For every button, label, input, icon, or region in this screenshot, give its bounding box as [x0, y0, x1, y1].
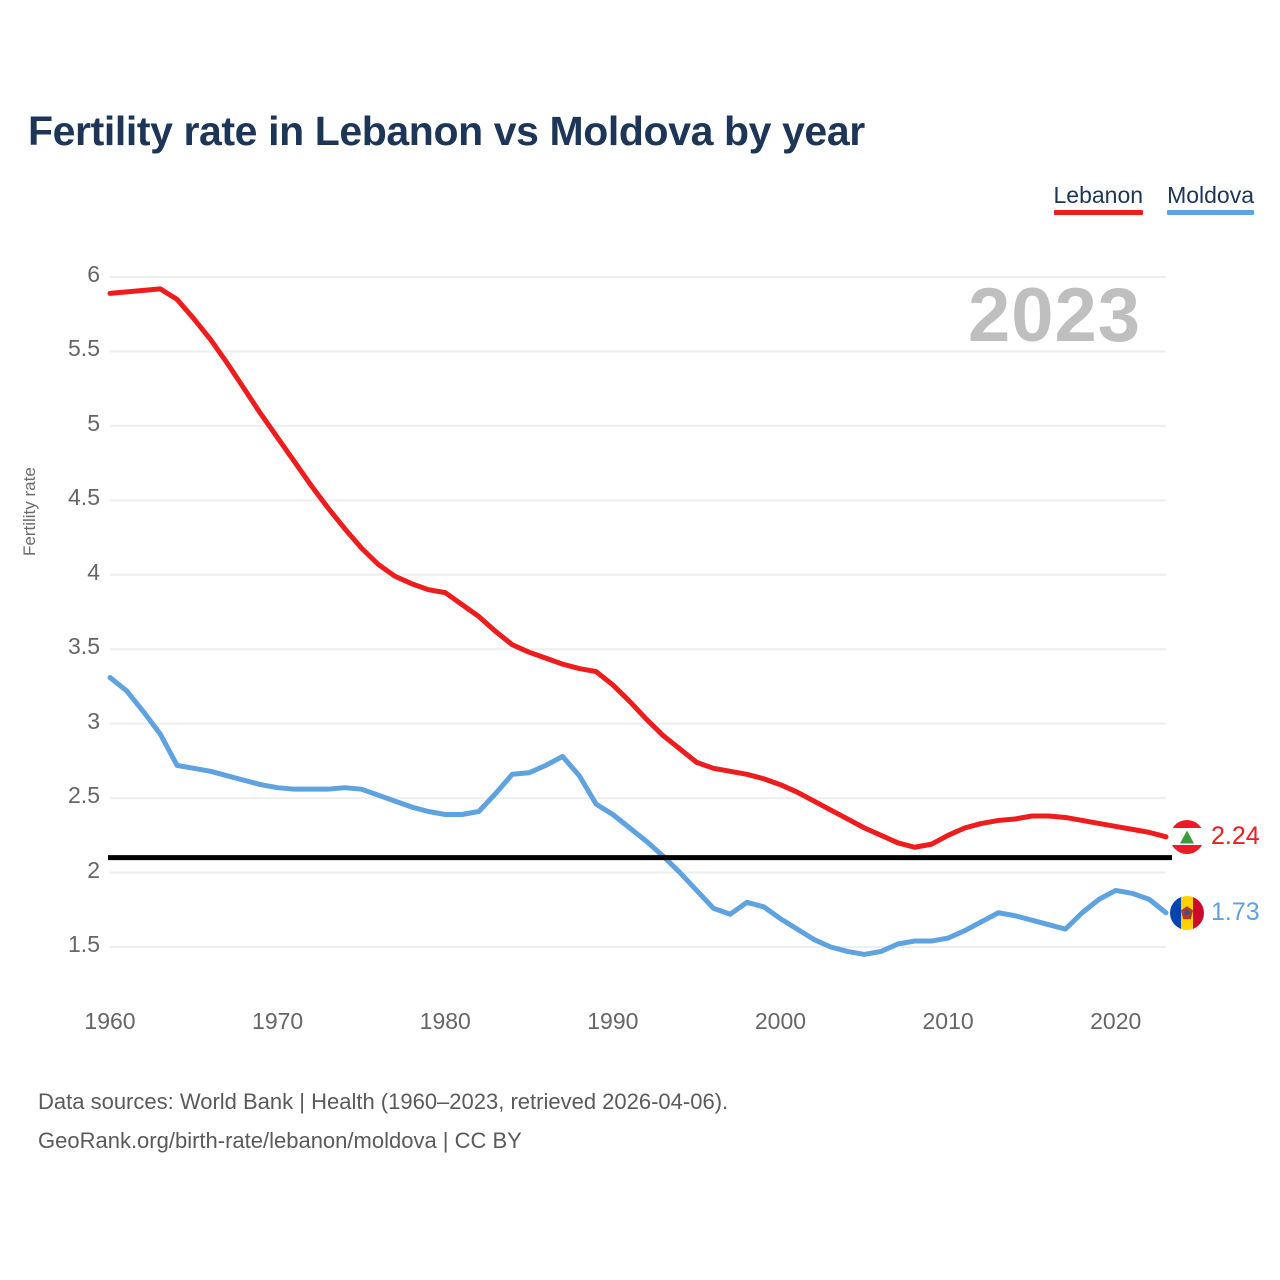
lebanon-flag-bottom-band: [1170, 845, 1204, 854]
end-label-moldova: 1.73: [1170, 896, 1260, 930]
footer: Data sources: World Bank | Health (1960–…: [38, 1082, 728, 1160]
gridlines: [110, 277, 1166, 947]
lebanon-flag-icon: [1170, 820, 1204, 854]
footer-data-sources: Data sources: World Bank | Health (1960–…: [38, 1082, 728, 1121]
lebanon-flag-top-band: [1170, 820, 1204, 829]
moldova-latest-value: 1.73: [1211, 898, 1260, 927]
moldova-flag-icon: [1170, 896, 1204, 930]
series-line-moldova: [110, 678, 1166, 955]
chart-page: Fertility rate in Lebanon vs Moldova by …: [0, 0, 1280, 1280]
footer-attribution: GeoRank.org/birth-rate/lebanon/moldova |…: [38, 1121, 728, 1160]
moldova-flag-blue-stripe: [1170, 896, 1181, 930]
lebanon-latest-value: 2.24: [1211, 822, 1260, 851]
series-line-lebanon: [110, 289, 1166, 847]
moldova-flag-red-stripe: [1193, 896, 1204, 930]
end-label-lebanon: 2.24: [1170, 820, 1260, 854]
cedar-tree-icon: [1180, 830, 1194, 843]
moldova-emblem-detail-icon: [1185, 910, 1190, 914]
